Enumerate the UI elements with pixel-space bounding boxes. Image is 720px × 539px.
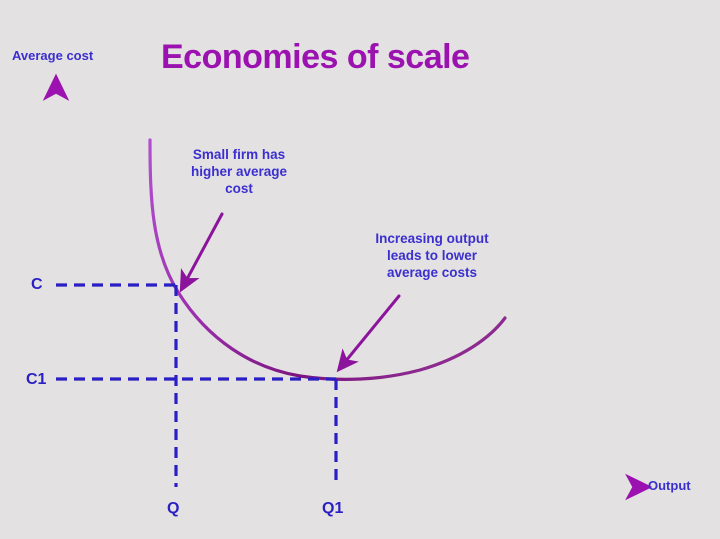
annotation-small-firm: Small firm hashigher averagecost [163, 146, 315, 197]
y-tick-label-c: C [31, 275, 43, 295]
annotation-small-firm-line3: cost [225, 181, 253, 196]
annotation-arrow-increasing-output [345, 296, 399, 362]
diagram-canvas: Economies of scale Average cost Output C… [0, 0, 720, 539]
annotation-arrow-small-firm [186, 214, 222, 281]
annotation-increasing-output-line2: leads to lower [387, 248, 477, 263]
annotation-small-firm-line1: Small firm has [193, 147, 285, 162]
annotation-increasing-output-line3: average costs [387, 265, 477, 280]
annotation-increasing-output: Increasing outputleads to loweraverage c… [352, 230, 512, 281]
page-title: Economies of scale [161, 36, 469, 79]
x-tick-label-q: Q [167, 499, 179, 519]
x-tick-label-q1: Q1 [322, 499, 343, 519]
annotation-small-firm-line2: higher average [191, 164, 287, 179]
y-tick-label-c1: C1 [26, 370, 46, 390]
y-axis-label: Average cost [12, 48, 93, 64]
annotation-increasing-output-line1: Increasing output [375, 231, 488, 246]
x-axis-label: Output [648, 478, 691, 494]
